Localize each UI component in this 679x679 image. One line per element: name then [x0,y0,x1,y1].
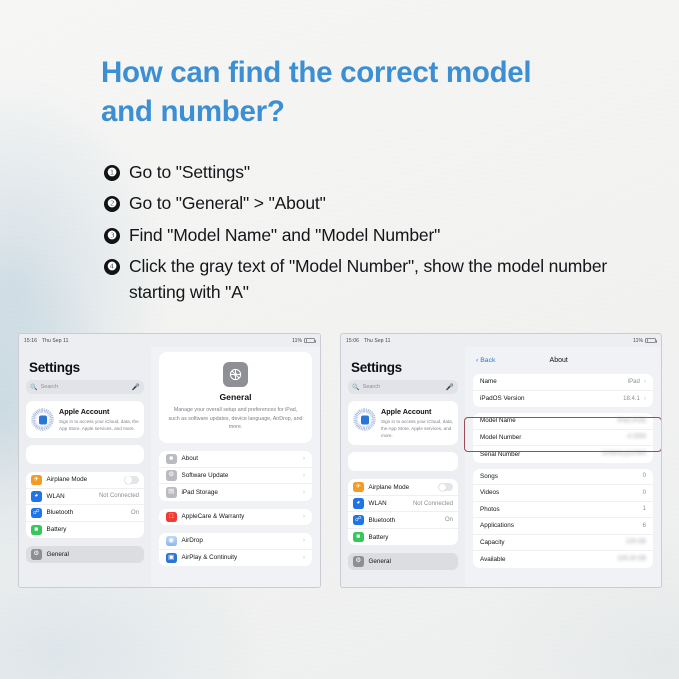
sidebar-item-bluetooth[interactable]: ☍ Bluetooth On [348,512,458,529]
sidebar-placeholder-card [348,452,458,471]
instruction-list: ❶ Go to "Settings" ❷ Go to "General" > "… [104,160,644,311]
about-row-name[interactable]: Name iPad › [473,374,653,391]
about-group-storage: Songs 0 Videos 0 Photos 1 Applications 6 [473,469,653,568]
step-text: Find "Model Name" and "Model Number" [129,223,644,248]
airplane-icon: ✈ [31,475,42,486]
battery-percent: 11% [633,338,643,344]
airplane-icon: ✈ [353,482,364,493]
sidebar-title: Settings [29,360,144,375]
chevron-right-icon: › [303,455,305,462]
about-row-label: Model Name [480,417,618,424]
sidebar-item-battery[interactable]: ■ Battery [26,522,144,539]
general-card-description: Manage your overall setup and preference… [168,406,303,432]
sidebar-item-value: Not Connected [99,493,139,499]
tablet-screenshot-right: 15:06 Thu Sep 11 11% Settings 🔍 Search 🎤 [340,333,662,588]
status-date: Thu Sep 11 [42,338,68,344]
page-root: How can find the correct model and numbe… [0,0,679,679]
sidebar-item-bluetooth[interactable]: ☍ Bluetooth On [26,505,144,522]
about-row-label: Name [480,378,628,385]
chevron-right-icon: › [303,472,305,479]
about-icon: ■ [166,454,177,465]
status-time: 15:16 [24,338,37,344]
sidebar-item-label: Battery [47,526,140,533]
account-name: Apple Account [381,407,453,416]
sidebar-item-battery[interactable]: ■ Battery [348,529,458,546]
airdrop-icon: ◉ [166,536,177,547]
search-input[interactable]: 🔍 Search 🎤 [26,380,144,394]
about-row-photos: Photos 1 [473,502,653,519]
list-item: ❷ Go to "General" > "About" [104,191,644,216]
chevron-right-icon: › [303,554,305,561]
general-group-three: ◉ AirDrop › ▣ AirPlay & Continuity › [159,533,312,566]
about-group-one: Name iPad › iPadOS Version 18.4.1 › [473,374,653,407]
microphone-icon[interactable]: 🎤 [446,383,454,391]
chevron-right-icon: › [303,489,305,496]
chevron-right-icon: › [644,378,646,385]
sidebar-item-label: WLAN [47,493,99,500]
about-row-label: Videos [480,489,643,496]
general-item-label: AirDrop [182,537,299,544]
general-item-ipad-storage[interactable]: ▤ iPad Storage › [159,484,312,501]
step-number-badge: ❷ [104,196,120,212]
account-name: Apple Account [59,407,139,416]
about-row-available: Available 109.28 GB [473,551,653,568]
search-icon: 🔍 [352,384,359,391]
general-item-label: AirPlay & Continuity [182,554,299,561]
general-item-airplay[interactable]: ▣ AirPlay & Continuity › [159,550,312,567]
sidebar-connectivity-group: ✈ Airplane Mode ◕ WLAN Not Connected ☍ B… [348,479,458,545]
back-button[interactable]: ‹ Back [476,357,495,364]
search-placeholder: Search [362,384,380,390]
sidebar-title: Settings [351,360,458,375]
bluetooth-icon: ☍ [31,508,42,519]
search-placeholder: Search [40,384,58,390]
sidebar-item-airplane-mode[interactable]: ✈ Airplane Mode [26,472,144,489]
status-time: 15:06 [346,338,359,344]
chevron-right-icon: › [303,537,305,544]
about-row-label: iPadOS Version [480,395,623,402]
step-number-badge: ❶ [104,165,120,181]
step-number-badge: ❸ [104,228,120,244]
sidebar-item-apple-account[interactable]: Apple Account Sign in to access your iCl… [348,401,458,445]
sidebar-item-label: Bluetooth [47,509,131,516]
general-item-airdrop[interactable]: ◉ AirDrop › [159,533,312,550]
airplay-icon: ▣ [166,553,177,564]
sidebar-connectivity-group: ✈ Airplane Mode ◕ WLAN Not Connected ☍ B… [26,472,144,538]
about-row-value: 0 [643,490,646,496]
sidebar-item-value: On [131,510,139,516]
sidebar-item-label: General [47,551,140,558]
about-row-value: GXWXLQJJ7M3 [602,451,646,457]
step-text: Go to "Settings" [129,160,644,185]
general-item-software-update[interactable]: ⚙ Software Update › [159,468,312,485]
status-bar: 15:16 Thu Sep 11 11% [19,334,320,347]
general-group-two:  AppleCare & Warranty › [159,509,312,526]
about-navigation-bar: ‹ Back About [473,352,653,369]
battery-icon [304,338,315,344]
about-row-label: Serial Number [480,451,602,458]
step-text: Go to "General" > "About" [129,191,644,216]
about-row-value: 0 [643,473,646,479]
about-row-label: Songs [480,473,643,480]
account-subtitle: Sign in to access your iCloud, data, the… [381,418,453,439]
avatar [353,408,376,431]
sidebar-item-value: On [445,517,453,523]
about-row-label: Available [480,556,617,563]
chevron-right-icon: › [644,395,646,402]
sidebar-item-wlan[interactable]: ◕ WLAN Not Connected [348,496,458,513]
status-date: Thu Sep 11 [364,338,390,344]
about-group-model: Model Name iPad (A16) Model Number A 335… [473,413,653,463]
about-row-value: iPad (A16) [618,418,646,424]
list-item: ❶ Go to "Settings" [104,160,644,185]
general-card-title: General [168,392,303,402]
account-subtitle: Sign in to access your iCloud, data, the… [59,418,139,432]
sidebar-item-general[interactable]: ⚙ General [348,553,458,570]
sidebar-item-label: WLAN [369,500,413,507]
about-row-serial-number[interactable]: Serial Number GXWXLQJJ7M3 [473,446,653,463]
sidebar-item-label: General [369,558,454,565]
about-row-value: iPad [628,379,640,385]
about-detail-pane: ‹ Back About Name iPad › iPadOS Version … [465,347,661,587]
general-item-label: About [182,455,299,462]
list-item: ❸ Find "Model Name" and "Model Number" [104,223,644,248]
gear-icon: ⚙ [353,556,364,567]
sidebar-item-apple-account[interactable]: Apple Account Sign in to access your iCl… [26,401,144,438]
sidebar-item-general[interactable]: ⚙ General [26,546,144,563]
sidebar-item-label: Airplane Mode [47,476,125,483]
general-item-label: iPad Storage [182,489,299,496]
wifi-icon: ◕ [31,491,42,502]
avatar [31,408,54,431]
battery-icon [645,338,656,344]
tablet-screenshot-left: 15:16 Thu Sep 11 11% Settings 🔍 Search 🎤 [18,333,321,588]
back-button-label: Back [480,357,495,364]
gear-icon: ⚙ [31,549,42,560]
about-row-value: 128 GB [626,539,646,545]
airplane-mode-toggle[interactable] [124,476,139,485]
about-row-value: 109.28 GB [617,556,646,562]
step-text: Click the gray text of "Model Number", s… [129,254,644,305]
about-row-label: Applications [480,522,643,529]
search-icon: 🔍 [30,384,37,391]
step-number-badge: ❹ [104,259,120,275]
search-input[interactable]: 🔍 Search 🎤 [348,380,458,394]
battery-percent: 11% [292,338,302,344]
about-row-label: Model Number [480,434,627,441]
sidebar-item-label: Airplane Mode [369,484,439,491]
gear-icon [223,362,248,387]
general-detail-pane: General Manage your overall setup and pr… [151,347,320,587]
about-row-videos: Videos 0 [473,485,653,502]
about-row-applications: Applications 6 [473,518,653,535]
about-row-model-number[interactable]: Model Number A 3359 [473,430,653,447]
chevron-right-icon: › [303,513,305,520]
wifi-icon: ◕ [353,498,364,509]
general-group-one: ■ About › ⚙ Software Update › ▤ iPad Sto… [159,451,312,501]
about-row-songs: Songs 0 [473,469,653,486]
storage-icon: ▤ [166,487,177,498]
about-row-model-name[interactable]: Model Name iPad (A16) [473,413,653,430]
airplane-mode-toggle[interactable] [438,483,453,492]
sidebar-item-airplane-mode[interactable]: ✈ Airplane Mode [348,479,458,496]
battery-icon: ■ [353,532,364,543]
microphone-icon[interactable]: 🎤 [132,383,140,391]
general-item-label: Software Update [182,472,299,479]
about-row-value: 18.4.1 [623,396,640,402]
sidebar-item-label: Bluetooth [369,517,445,524]
chevron-left-icon: ‹ [476,357,478,364]
general-item-label: AppleCare & Warranty [182,513,299,520]
apple-icon:  [166,512,177,523]
about-row-capacity: Capacity 128 GB [473,535,653,552]
settings-sidebar: Settings 🔍 Search 🎤 Apple Account Sign i… [341,347,465,587]
general-item-about[interactable]: ■ About › [159,451,312,468]
battery-icon: ■ [31,525,42,536]
settings-sidebar: Settings 🔍 Search 🎤 Apple Account Sign i… [19,347,151,587]
bluetooth-icon: ☍ [353,515,364,526]
general-header-card: General Manage your overall setup and pr… [159,352,312,443]
about-title: About [550,357,568,364]
sidebar-item-label: Battery [369,534,454,541]
software-update-icon: ⚙ [166,470,177,481]
about-row-value: A 3359 [627,434,646,440]
general-item-applecare[interactable]:  AppleCare & Warranty › [159,509,312,526]
about-row-label: Capacity [480,539,626,546]
sidebar-placeholder-card [26,445,144,464]
status-bar: 15:06 Thu Sep 11 11% [341,334,661,347]
sidebar-item-wlan[interactable]: ◕ WLAN Not Connected [26,489,144,506]
page-title: How can find the correct model and numbe… [101,53,581,131]
sidebar-item-value: Not Connected [413,501,453,507]
list-item: ❹ Click the gray text of "Model Number",… [104,254,644,305]
about-row-value: 1 [643,506,646,512]
about-row-label: Photos [480,506,643,513]
about-row-value: 6 [643,523,646,529]
about-row-ipados-version[interactable]: iPadOS Version 18.4.1 › [473,391,653,408]
